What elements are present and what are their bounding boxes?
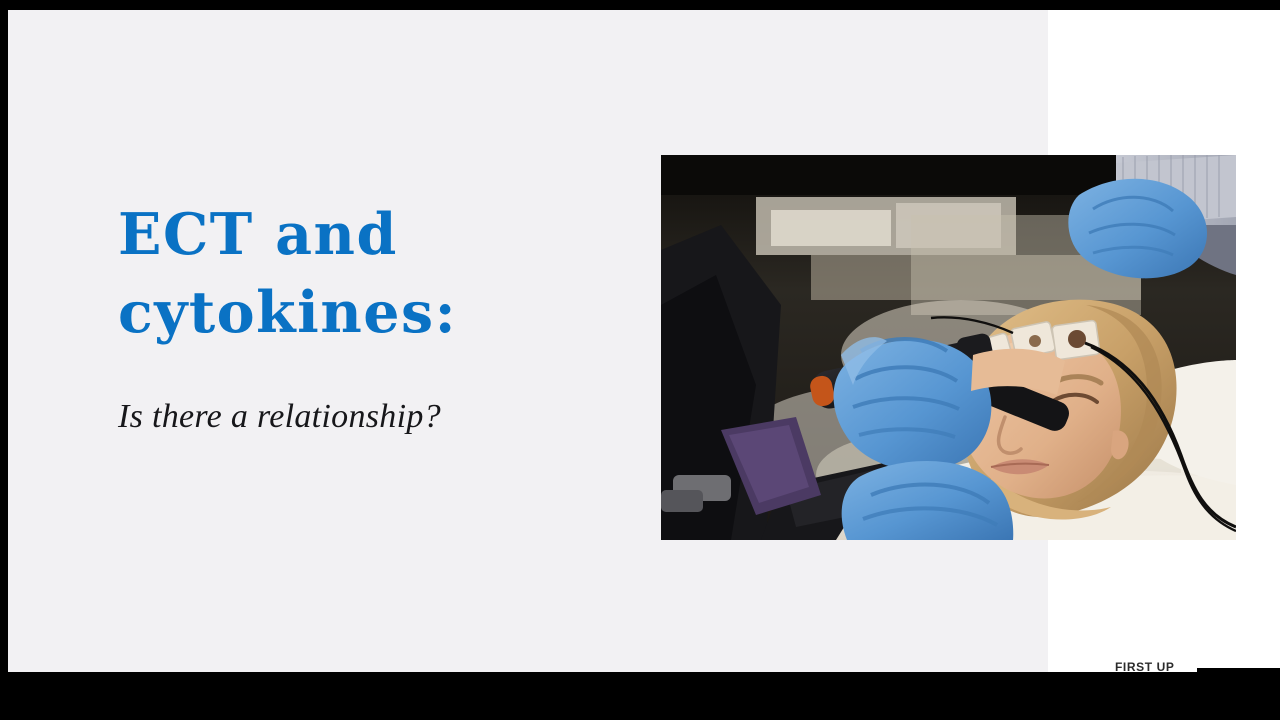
letterbox-left [0,0,8,720]
photo-illustration [661,155,1236,540]
page-subtitle: Is there a relationship? [118,396,588,438]
page-title: ECT and cytokines: [118,196,588,352]
ect-procedure-photo [661,155,1236,540]
letterbox-top [0,0,1280,10]
title-block: ECT and cytokines: Is there a relationsh… [118,196,588,438]
slide-root: ECT and cytokines: Is there a relationsh… [0,0,1280,720]
letterbox-bottom [0,672,1197,720]
letterbox-bottom-right [1197,668,1280,720]
